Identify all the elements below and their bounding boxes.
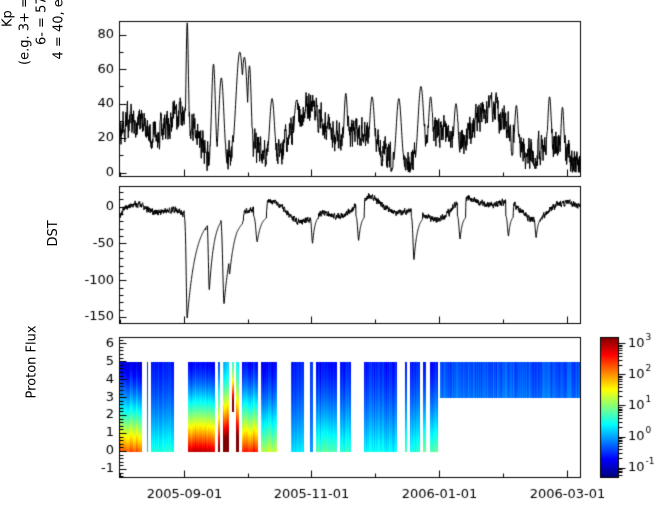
axis-title-line: 6- = 57,: [34, 0, 51, 65]
axis-title-line: (e.g. 3+ = 33,: [17, 0, 34, 65]
axis-title-line: Proton Flux: [23, 325, 40, 398]
kp-axis-title: Kp(e.g. 3+ = 33,6- = 57,4 = 40, etc.): [0, 0, 68, 65]
axis-title-line: 4 = 40, etc.): [51, 0, 68, 65]
axis-title-line: DST: [45, 220, 62, 246]
figure-root: Kp(e.g. 3+ = 33,6- = 57,4 = 40, etc.) DS…: [0, 0, 665, 523]
dst-axis-title: DST: [45, 220, 62, 246]
axis-title-line: Kp: [0, 0, 17, 65]
space-weather-plot-canvas: [0, 0, 665, 523]
proton-flux-axis-title: Proton Flux: [23, 325, 40, 398]
